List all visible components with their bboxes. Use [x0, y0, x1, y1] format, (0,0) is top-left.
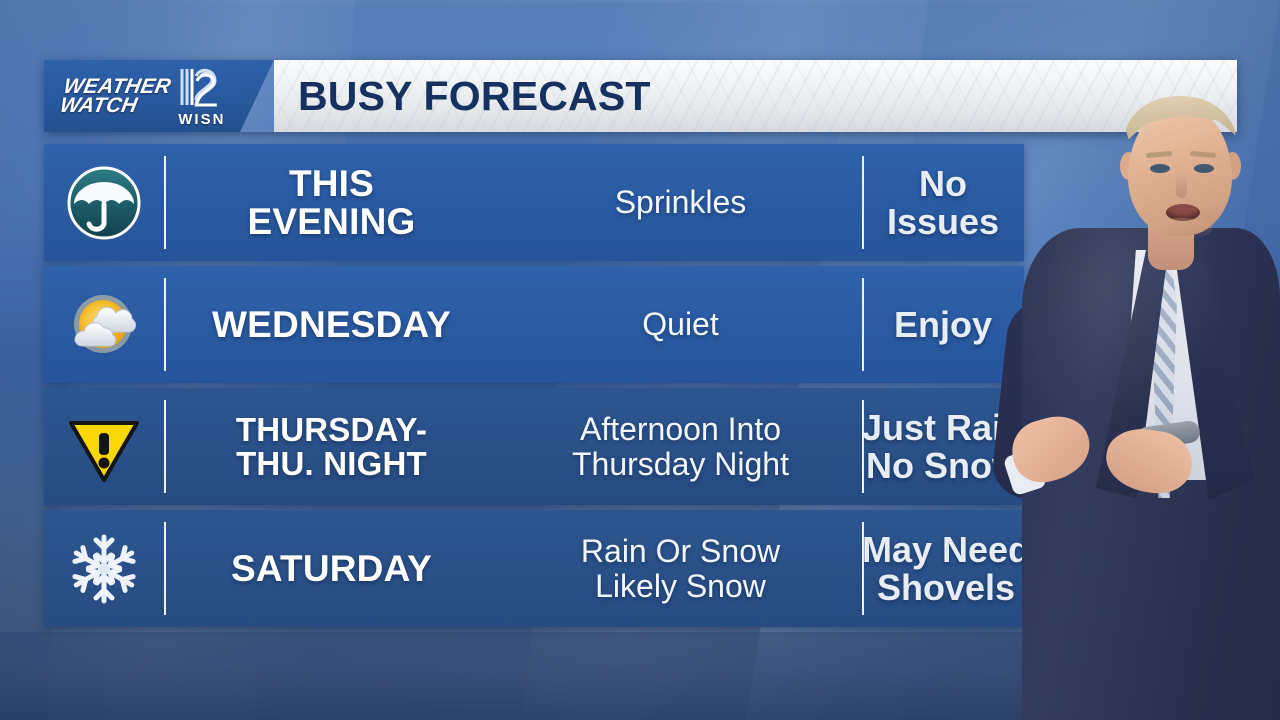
- impact-line-1: No: [887, 165, 999, 202]
- forecast-icon-cell: [44, 266, 164, 383]
- forecast-conditions-text: Sprinkles: [615, 185, 747, 220]
- forecast-period-text: WEDNESDAY: [212, 306, 451, 344]
- impact-line-2: Shovels: [862, 569, 1030, 606]
- title-bar-wedge: [240, 60, 274, 132]
- forecast-table: THIS EVENING Sprinkles No Issues: [44, 144, 1024, 627]
- title-plate: BUSY FORECAST: [274, 60, 1237, 132]
- conditions-line-1: Afternoon Into: [572, 412, 789, 447]
- forecast-impact-cell: Just Rain No Snow: [862, 388, 1024, 505]
- table-row: WEDNESDAY Quiet Enjoy: [44, 266, 1024, 383]
- forecast-impact-cell: May Need Shovels: [862, 510, 1030, 627]
- period-line-1: THURSDAY-: [236, 413, 427, 447]
- impact-line-1: Enjoy: [894, 306, 992, 343]
- page-title: BUSY FORECAST: [298, 73, 651, 120]
- forecast-impact-cell: No Issues: [862, 144, 1024, 261]
- forecast-icon-cell: [44, 388, 164, 505]
- conditions-line-2: Thursday Night: [572, 447, 789, 482]
- impact-line-2: Issues: [887, 203, 999, 240]
- broadcast-screen: WEATHER WATCH: [0, 0, 1280, 720]
- forecast-period-cell: SATURDAY: [164, 510, 499, 627]
- logo-line-weather: WEATHER: [62, 77, 172, 96]
- graphic-title-bar: WEATHER WATCH: [44, 60, 1237, 132]
- impact-line-1: Just Rain: [862, 409, 1024, 446]
- forecast-period-text: THURSDAY- THU. NIGHT: [236, 413, 427, 480]
- impact-line-1: May Need: [862, 531, 1030, 568]
- forecast-conditions-text: Rain Or Snow Likely Snow: [581, 534, 780, 603]
- forecast-period-cell: THIS EVENING: [164, 144, 499, 261]
- table-row: THIS EVENING Sprinkles No Issues: [44, 144, 1024, 261]
- table-row: THURSDAY- THU. NIGHT Afternoon Into Thur…: [44, 388, 1024, 505]
- forecast-impact-text: Just Rain No Snow: [862, 409, 1024, 483]
- conditions-line-1: Sprinkles: [615, 185, 747, 220]
- forecast-conditions-cell: Rain Or Snow Likely Snow: [499, 510, 862, 627]
- conditions-line-1: Rain Or Snow: [581, 534, 780, 569]
- forecast-conditions-cell: Quiet: [499, 266, 862, 383]
- forecast-conditions-cell: Sprinkles: [499, 144, 862, 261]
- forecast-impact-text: No Issues: [887, 165, 999, 239]
- callsign-text: WISN: [178, 111, 225, 128]
- period-line-2: EVENING: [248, 203, 416, 241]
- forecast-impact-cell: Enjoy: [862, 266, 1024, 383]
- period-line-2: THU. NIGHT: [236, 447, 427, 481]
- channel-number-glyph: [176, 64, 228, 110]
- forecast-impact-text: Enjoy: [894, 306, 992, 343]
- period-line-1: SATURDAY: [231, 550, 432, 588]
- period-line-1: WEDNESDAY: [212, 306, 451, 344]
- snowflake-icon: [65, 530, 143, 608]
- period-line-1: THIS: [248, 165, 416, 203]
- weather-watch-wordmark: WEATHER WATCH: [58, 77, 172, 116]
- logo-line-watch: WATCH: [58, 96, 168, 115]
- forecast-conditions-text: Quiet: [642, 307, 718, 342]
- table-row: SATURDAY Rain Or Snow Likely Snow May Ne…: [44, 510, 1024, 627]
- partly-cloudy-icon: [65, 286, 143, 364]
- forecast-icon-cell: [44, 510, 164, 627]
- forecast-impact-text: May Need Shovels: [862, 531, 1030, 605]
- conditions-line-2: Likely Snow: [581, 569, 780, 604]
- forecast-period-text: SATURDAY: [231, 550, 432, 588]
- forecast-period-text: THIS EVENING: [248, 165, 416, 240]
- forecast-conditions-text: Afternoon Into Thursday Night: [572, 412, 789, 481]
- channel-12-mark: WISN: [176, 64, 228, 128]
- station-logo: WEATHER WATCH: [44, 60, 240, 132]
- forecast-period-cell: THURSDAY- THU. NIGHT: [164, 388, 499, 505]
- forecast-conditions-cell: Afternoon Into Thursday Night: [499, 388, 862, 505]
- forecast-icon-cell: [44, 144, 164, 261]
- impact-line-2: No Snow: [862, 447, 1024, 484]
- umbrella-icon: [65, 164, 143, 242]
- forecast-period-cell: WEDNESDAY: [164, 266, 499, 383]
- warning-triangle-icon: [65, 408, 143, 486]
- conditions-line-1: Quiet: [642, 307, 718, 342]
